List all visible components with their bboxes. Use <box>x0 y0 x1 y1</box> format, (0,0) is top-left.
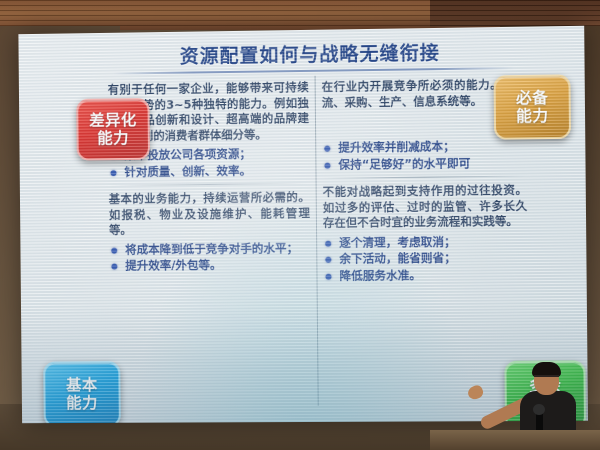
badge-differentiating-capability: 差异化 能力 <box>76 98 150 161</box>
conference-room-photo: 资源配置如何与战略无缝衔接 有别于任何一家企业，能够带来可持续竞争优势的3~5种… <box>0 0 600 450</box>
slide-title-bar: 资源配置如何与战略无缝衔接 <box>127 35 493 70</box>
page-title: 资源配置如何与战略无缝衔接 <box>180 37 440 68</box>
list-item-label: 提升效率/外包等。 <box>125 258 221 273</box>
quadrant-redundant-capability: 不能对战略起到支持作用的过往投资。如过多的评估、过时的监管、许多长久存在但不合时… <box>323 183 528 284</box>
bullet-dot-icon <box>325 257 331 263</box>
list-item-label: 针对质量、创新、效率。 <box>124 163 251 178</box>
bullet-dot-icon <box>325 240 331 246</box>
quadrant-bullet-list: 提升效率并削减成本； 保持“足够好”的水平即可 <box>322 138 527 172</box>
list-item-label: 余下活动，能省则省； <box>339 251 456 266</box>
list-item: 保持“足够好”的水平即可 <box>322 155 526 173</box>
badge-basic-capability: 基本 能力 <box>43 361 121 423</box>
bullet-dot-icon <box>111 247 117 253</box>
badge-label-line2: 能力 <box>516 107 549 126</box>
list-item-label: 降低服务水准。 <box>339 267 421 282</box>
quadrant-divider <box>109 183 310 186</box>
quadrant-paragraph: 不能对战略起到支持作用的过往投资。如过多的评估、过时的监管、许多长久存在但不合时… <box>323 183 528 232</box>
badge-label-line1: 基本 <box>66 376 98 394</box>
quadrant-basic-capability: 基本的业务能力，持续运营所必需的。如报税、物业及设施维护、能耗管理等。 将成本降… <box>109 190 311 274</box>
badge-label-line2: 能力 <box>66 394 98 412</box>
list-item-label: 保持“足够好”的水平即可 <box>338 156 470 172</box>
list-item: 提升效率并削减成本； <box>322 138 526 156</box>
list-item-label: 将成本降到低于竞争对手的水平； <box>125 241 298 257</box>
list-item: 将成本降到低于竞争对手的水平； <box>109 240 310 257</box>
slide-content-grid: 有别于任何一家企业，能够带来可持续竞争优势的3~5种独特的能力。例如独特的产品创… <box>102 73 535 407</box>
badge-label-line1: 必备 <box>516 89 549 108</box>
microphone-icon <box>533 404 545 415</box>
list-item: 余下活动，能省则省； <box>323 250 527 267</box>
bullet-dot-icon <box>324 146 330 152</box>
quadrant-divider <box>323 176 527 179</box>
list-item: 逐个清理，考虑取消； <box>323 233 527 250</box>
bullet-dot-icon <box>110 170 116 176</box>
bullet-dot-icon <box>324 162 330 168</box>
list-item: 针对质量、创新、效率。 <box>108 162 309 180</box>
table-edge <box>430 430 600 450</box>
badge-label-line1: 差异化 <box>89 111 137 130</box>
bullet-dot-icon <box>111 264 117 270</box>
badge-label-line2: 能力 <box>97 129 129 147</box>
list-item-label: 逐个清理，考虑取消； <box>339 234 456 249</box>
glasses-icon <box>534 375 559 380</box>
list-item: 降低服务水准。 <box>323 267 527 284</box>
list-item: 提升效率/外包等。 <box>109 257 310 274</box>
bullet-dot-icon <box>325 273 331 279</box>
quadrant-bullet-list: 将成本降到低于竞争对手的水平； 提升效率/外包等。 <box>109 240 310 274</box>
quadrant-paragraph: 基本的业务能力，持续运营所必需的。如报税、物业及设施维护、能耗管理等。 <box>109 190 310 238</box>
list-item-label: 提升效率并削减成本； <box>338 139 455 154</box>
badge-table-stakes-capability: 必备 能力 <box>494 74 572 139</box>
quadrant-bullet-list: 逐个清理，考虑取消； 余下活动，能省则省； 降低服务水准。 <box>323 233 528 283</box>
